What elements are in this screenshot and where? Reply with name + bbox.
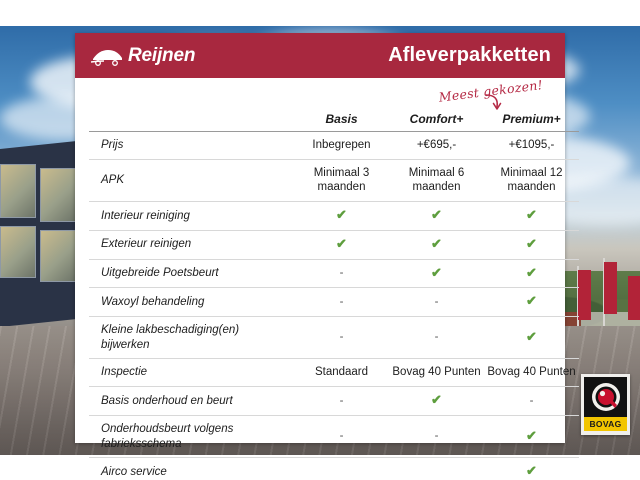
cell-premium-plus: ✔ — [484, 202, 579, 231]
letterbox-band-top — [0, 0, 640, 26]
row-label: Exterieur reinigen — [89, 230, 294, 259]
cell-premium-plus: ✔ — [484, 458, 579, 480]
check-icon: ✔ — [526, 265, 537, 280]
cell-comfort-plus: Minimaal 6 maanden — [389, 159, 484, 201]
row-label: APK — [89, 159, 294, 201]
cell-premium-plus: ✔ — [484, 230, 579, 259]
check-icon: ✔ — [526, 236, 537, 251]
building-window — [40, 230, 76, 282]
column-header-comfort-plus: Comfort+ — [389, 112, 484, 132]
check-icon: ✔ — [336, 236, 347, 251]
cell-basis: ✔ — [294, 230, 389, 259]
red-banner-flag — [578, 270, 591, 320]
cell-premium-plus: ✔ — [484, 288, 579, 317]
dash-marker: - — [340, 395, 344, 407]
screenshot-stage: Reijnen Afleverpakketten Meest gekozen! … — [0, 0, 640, 480]
dash-marker: - — [340, 296, 344, 308]
check-icon: ✔ — [431, 392, 442, 407]
cell-premium-plus: ✔ — [484, 415, 579, 457]
cell-comfort-plus: +€695,- — [389, 132, 484, 160]
car-silhouette-icon — [91, 45, 125, 67]
afleverpakketten-card: Reijnen Afleverpakketten Meest gekozen! … — [75, 33, 565, 443]
dash-marker: - — [340, 430, 344, 442]
brand-name: Reijnen — [128, 46, 195, 65]
annotation-zone: Meest gekozen! — [75, 78, 565, 112]
table-row: Onderhoudsbeurt volgens fabrieksschema--… — [89, 415, 579, 457]
row-label: Prijs — [89, 132, 294, 160]
building-window — [0, 164, 36, 218]
row-label: Kleine lakbeschadiging(en) bijwerken — [89, 317, 294, 359]
check-icon: ✔ — [431, 265, 442, 280]
dash-marker: - — [340, 331, 344, 343]
building-window — [40, 168, 76, 222]
cell-comfort-plus: ✔ — [389, 230, 484, 259]
bovag-q-mark-icon — [584, 377, 627, 417]
comparison-table-wrapper: Basis Comfort+ Premium+ PrijsInbegrepen+… — [75, 112, 565, 480]
cell-basis: - — [294, 387, 389, 416]
row-label: Inspectie — [89, 359, 294, 387]
cell-premium-plus: +€1095,- — [484, 132, 579, 160]
reijnen-logo[interactable]: Reijnen — [91, 45, 195, 67]
bovag-label: BOVAG — [584, 417, 627, 431]
dash-marker: - — [435, 430, 439, 442]
cell-premium-plus: ✔ — [484, 259, 579, 288]
column-header-premium-plus: Premium+ — [484, 112, 579, 132]
cell-comfort-plus: ✔ — [389, 259, 484, 288]
table-row: Basis onderhoud en beurt-✔- — [89, 387, 579, 416]
table-body: PrijsInbegrepen+€695,-+€1095,-APKMinimaa… — [89, 132, 579, 480]
cell-comfort-plus: - — [389, 288, 484, 317]
red-banner-flag — [628, 276, 640, 320]
table-row: Waxoyl behandeling--✔ — [89, 288, 579, 317]
card-header: Reijnen Afleverpakketten — [75, 33, 565, 78]
table-row: Exterieur reinigen✔✔✔ — [89, 230, 579, 259]
row-label: Waxoyl behandeling — [89, 288, 294, 317]
cell-basis — [294, 458, 389, 480]
dash-marker: - — [435, 331, 439, 343]
cell-basis: Standaard — [294, 359, 389, 387]
cell-premium-plus: ✔ — [484, 317, 579, 359]
cell-comfort-plus: - — [389, 317, 484, 359]
column-header-basis: Basis — [294, 112, 389, 132]
cell-comfort-plus: - — [389, 415, 484, 457]
cell-premium-plus: Bovag 40 Punten — [484, 359, 579, 387]
afleverpakketten-comparison-table: Basis Comfort+ Premium+ PrijsInbegrepen+… — [89, 112, 579, 480]
cell-comfort-plus: Bovag 40 Punten — [389, 359, 484, 387]
table-row: Uitgebreide Poetsbeurt-✔✔ — [89, 259, 579, 288]
table-header-row: Basis Comfort+ Premium+ — [89, 112, 579, 132]
row-label: Basis onderhoud en beurt — [89, 387, 294, 416]
check-icon: ✔ — [431, 236, 442, 251]
cell-basis: Inbegrepen — [294, 132, 389, 160]
row-label: Uitgebreide Poetsbeurt — [89, 259, 294, 288]
cell-basis: Minimaal 3 maanden — [294, 159, 389, 201]
check-icon: ✔ — [526, 329, 537, 344]
cell-comfort-plus: ✔ — [389, 387, 484, 416]
bovag-badge: BOVAG — [581, 374, 630, 435]
dash-marker: - — [340, 267, 344, 279]
check-icon: ✔ — [526, 463, 537, 478]
table-row: Interieur reiniging✔✔✔ — [89, 202, 579, 231]
cell-basis: - — [294, 288, 389, 317]
table-row: APKMinimaal 3 maandenMinimaal 6 maandenM… — [89, 159, 579, 201]
red-banner-flag — [604, 262, 617, 314]
check-icon: ✔ — [526, 428, 537, 443]
table-row: InspectieStandaardBovag 40 PuntenBovag 4… — [89, 359, 579, 387]
row-label: Onderhoudsbeurt volgens fabrieksschema — [89, 415, 294, 457]
table-row: PrijsInbegrepen+€695,-+€1095,- — [89, 132, 579, 160]
cell-basis: - — [294, 259, 389, 288]
cell-comfort-plus — [389, 458, 484, 480]
cell-comfort-plus: ✔ — [389, 202, 484, 231]
check-icon: ✔ — [526, 293, 537, 308]
cell-basis: - — [294, 317, 389, 359]
dash-marker: - — [530, 395, 534, 407]
cell-basis: - — [294, 415, 389, 457]
building-window — [0, 226, 36, 278]
cell-premium-plus: Minimaal 12 maanden — [484, 159, 579, 201]
curved-arrow-down-icon — [483, 93, 509, 113]
dash-marker: - — [435, 296, 439, 308]
check-icon: ✔ — [336, 207, 347, 222]
table-row: Airco service✔ — [89, 458, 579, 480]
column-header-feature — [89, 112, 294, 132]
row-label: Airco service — [89, 458, 294, 480]
cell-premium-plus: - — [484, 387, 579, 416]
table-row: Kleine lakbeschadiging(en) bijwerken--✔ — [89, 317, 579, 359]
page-title: Afleverpakketten — [388, 44, 551, 67]
row-label: Interieur reiniging — [89, 202, 294, 231]
cell-basis: ✔ — [294, 202, 389, 231]
check-icon: ✔ — [431, 207, 442, 222]
check-icon: ✔ — [526, 207, 537, 222]
